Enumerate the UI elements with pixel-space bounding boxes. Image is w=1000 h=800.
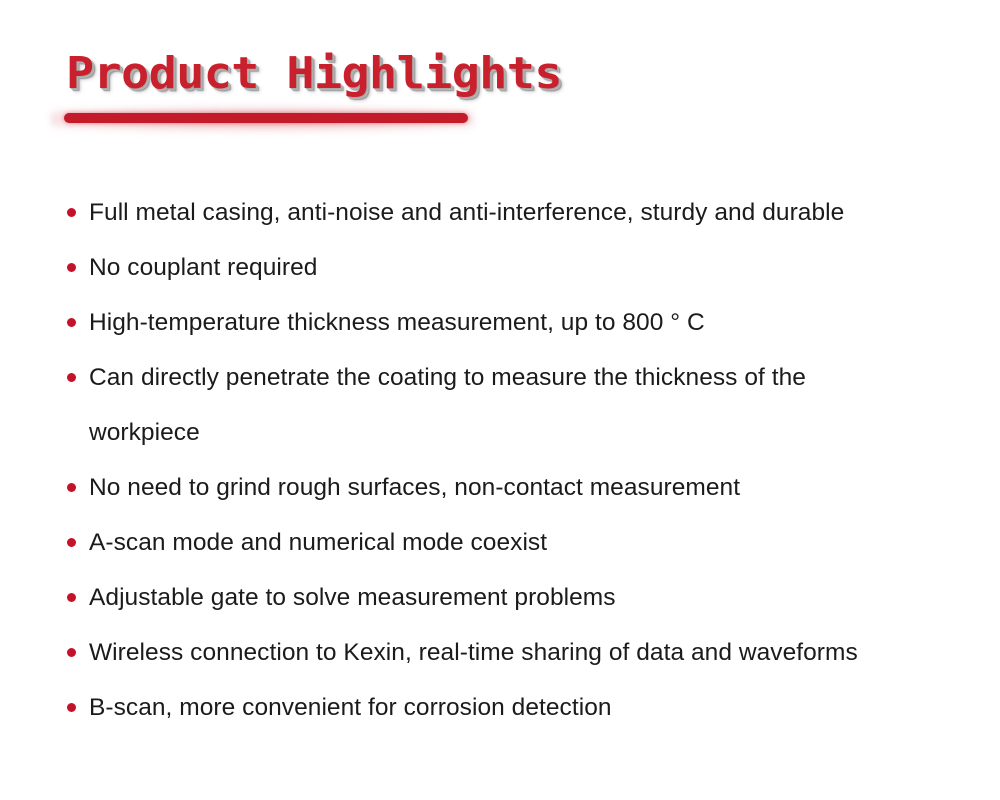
list-item-label: B-scan, more convenient for corrosion de… (89, 693, 612, 723)
slide-canvas: Product Highlights Full metal casing, an… (0, 0, 1000, 800)
bullet-dot-icon (67, 538, 76, 547)
list-item-continuation: workpiece (62, 405, 972, 460)
title-underline-bar (64, 113, 468, 123)
list-item: Wireless connection to Kexin, real-time … (62, 625, 972, 680)
list-item-label: No need to grind rough surfaces, non-con… (89, 473, 740, 503)
list-item-label: No couplant required (89, 253, 317, 283)
list-item: High-temperature thickness measurement, … (62, 295, 972, 350)
list-item-label: Can directly penetrate the coating to me… (89, 363, 806, 393)
bullet-dot-icon (67, 703, 76, 712)
bullet-dot-icon (67, 648, 76, 657)
bullet-dot-icon (67, 318, 76, 327)
list-item: A-scan mode and numerical mode coexist (62, 515, 972, 570)
list-item-label: workpiece (89, 418, 200, 448)
list-item-label: Wireless connection to Kexin, real-time … (89, 638, 858, 668)
list-item: Can directly penetrate the coating to me… (62, 350, 972, 405)
list-item: No couplant required (62, 240, 972, 295)
list-item: No need to grind rough surfaces, non-con… (62, 460, 972, 515)
list-item-label: Full metal casing, anti-noise and anti-i… (89, 198, 844, 228)
bullet-dot-icon (67, 483, 76, 492)
list-item: Full metal casing, anti-noise and anti-i… (62, 185, 972, 240)
bullet-dot-icon (67, 593, 76, 602)
list-item: Adjustable gate to solve measurement pro… (62, 570, 972, 625)
list-item: B-scan, more convenient for corrosion de… (62, 680, 972, 735)
list-item-label: A-scan mode and numerical mode coexist (89, 528, 547, 558)
bullet-dot-icon (67, 208, 76, 217)
bullet-dot-icon (67, 373, 76, 382)
slide-title-block: Product Highlights (60, 48, 700, 138)
list-item-label: High-temperature thickness measurement, … (89, 308, 705, 338)
product-highlights-list: Full metal casing, anti-noise and anti-i… (62, 185, 972, 735)
bullet-dot-icon (67, 263, 76, 272)
list-item-label: Adjustable gate to solve measurement pro… (89, 583, 616, 613)
page-title: Product Highlights (66, 48, 562, 100)
